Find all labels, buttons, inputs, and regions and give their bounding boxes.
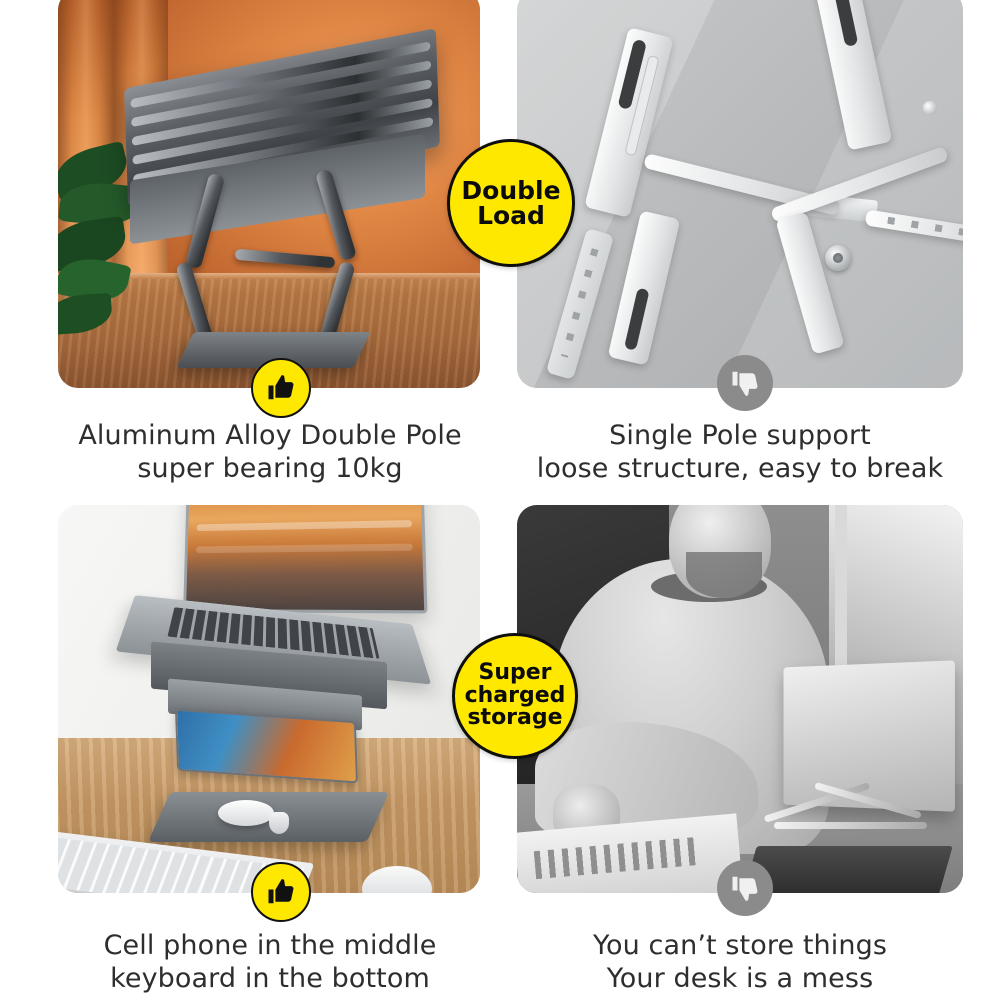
panel-bottom-right[interactable]: [517, 505, 963, 893]
caption-bottom-left: Cell phone in the middle keyboard in the…: [40, 930, 500, 996]
earbud: [269, 812, 289, 834]
caption-bottom-right-line1: You can’t store things: [505, 930, 975, 963]
badge-storage-line2: charged: [465, 683, 566, 708]
photo-stand-with-phone-and-keyboard: [58, 505, 480, 893]
badge-storage-line1: Super: [478, 660, 551, 685]
caption-bottom-right: You can’t store things Your desk is a me…: [505, 930, 975, 996]
caption-top-right-line1: Single Pole support: [505, 420, 975, 453]
badge-super-charged-storage: Super charged storage: [452, 633, 578, 759]
caption-top-left: Aluminum Alloy Double Pole super bearing…: [40, 420, 500, 486]
pivot-screw-icon: [825, 245, 851, 271]
person-beard: [686, 552, 762, 599]
caption-top-right-line2: loose structure, easy to break: [505, 453, 975, 486]
caption-top-left-line1: Aluminum Alloy Double Pole: [40, 420, 500, 453]
photo-messy-desk-man: [517, 505, 963, 893]
badge-double-load-line2: Load: [477, 201, 545, 230]
cell-phone: [175, 708, 358, 783]
photo-single-pole-stand: [517, 0, 963, 388]
caption-top-left-line2: super bearing 10kg: [40, 453, 500, 486]
badge-storage-line3: storage: [467, 705, 562, 730]
earbuds-case: [218, 800, 274, 826]
caption-bottom-right-line2: Your desk is a mess: [505, 963, 975, 996]
panel-top-left[interactable]: [58, 0, 480, 388]
photo-aluminum-double-pole-stand: [58, 0, 480, 388]
thumbs-down-icon: [717, 355, 773, 411]
simple-x-stand: [758, 784, 954, 842]
panel-bottom-left[interactable]: [58, 505, 480, 893]
infographic-board: Double Load Super charged storage Alumin…: [0, 0, 1001, 1001]
laptop-screen: [183, 505, 428, 613]
thumbs-up-icon: [251, 358, 311, 418]
caption-bottom-left-line1: Cell phone in the middle: [40, 930, 500, 963]
badge-double-load: Double Load: [447, 139, 575, 267]
caption-top-right: Single Pole support loose structure, eas…: [505, 420, 975, 486]
caption-bottom-left-line2: keyboard in the bottom: [40, 963, 500, 996]
thumbs-down-icon: [717, 860, 773, 916]
thumbs-up-icon: [251, 862, 311, 922]
panel-top-right[interactable]: [517, 0, 963, 388]
